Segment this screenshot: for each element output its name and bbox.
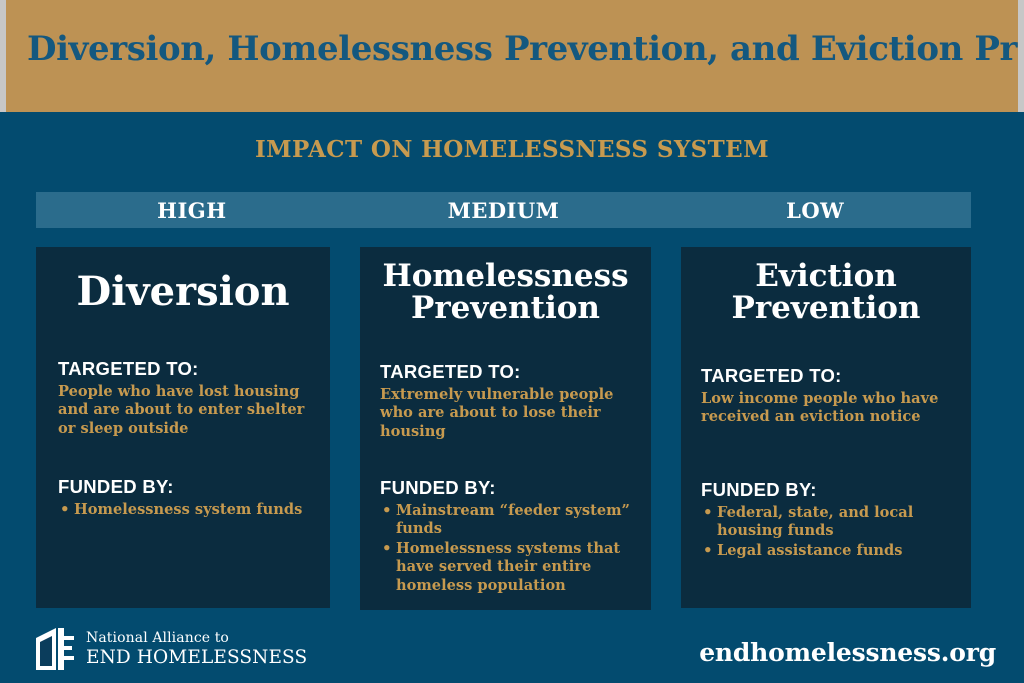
logo-line-2: END HOMELESSNESS	[86, 649, 307, 668]
list-item: Mainstream “feeder system” funds	[380, 502, 638, 539]
card-funded-section: FUNDED BY: Mainstream “feeder system” fu…	[380, 477, 638, 596]
card-targeted-section: TARGETED TO: People who have lost housin…	[58, 358, 320, 438]
logo-line-1: National Alliance to	[86, 631, 307, 645]
open-door-logo-icon	[34, 626, 78, 672]
list-item: Federal, state, and local housing funds	[701, 504, 959, 541]
card-title: Eviction Prevention	[681, 260, 971, 324]
list-item: Homelessness system funds	[58, 501, 320, 519]
card-targeted-section: TARGETED TO: Extremely vulnerable people…	[380, 361, 638, 441]
footer: National Alliance to END HOMELESSNESS en…	[0, 612, 1024, 683]
level-cell-medium: MEDIUM	[348, 192, 660, 228]
targeted-to-text: Extremely vulnerable people who are abou…	[380, 386, 638, 441]
funded-by-list: Homelessness system funds	[58, 501, 320, 519]
targeted-to-text: Low income people who have received an e…	[701, 390, 959, 427]
card-title: Diversion	[36, 271, 330, 313]
card-funded-section: FUNDED BY: Federal, state, and local hou…	[701, 479, 959, 561]
funded-by-label: FUNDED BY:	[58, 476, 320, 498]
targeted-to-label: TARGETED TO:	[58, 358, 320, 380]
card-targeted-section: TARGETED TO: Low income people who have …	[701, 365, 959, 427]
targeted-to-text: People who have lost housing and are abo…	[58, 383, 320, 438]
organization-logo: National Alliance to END HOMELESSNESS	[34, 626, 307, 672]
header-band: Diversion, Homelessness Prevention, and …	[0, 0, 1024, 112]
list-item: Homelessness systems that have served th…	[380, 540, 638, 595]
list-item: Legal assistance funds	[701, 542, 959, 560]
funded-by-list: Federal, state, and local housing funds …	[701, 504, 959, 560]
funded-by-list: Mainstream “feeder system” funds Homeles…	[380, 502, 638, 595]
targeted-to-label: TARGETED TO:	[701, 365, 959, 387]
card-funded-section: FUNDED BY: Homelessness system funds	[58, 476, 320, 520]
funded-by-label: FUNDED BY:	[701, 479, 959, 501]
impact-level-bar: HIGH MEDIUM LOW	[36, 192, 971, 228]
site-url: endhomelessness.org	[699, 638, 996, 667]
funded-by-label: FUNDED BY:	[380, 477, 638, 499]
card-homelessness-prevention: Homelessness Prevention TARGETED TO: Ext…	[360, 247, 651, 610]
level-cell-high: HIGH	[36, 192, 348, 228]
impact-heading: IMPACT ON HOMELESSNESS SYSTEM	[0, 136, 1024, 163]
card-title: Homelessness Prevention	[360, 260, 651, 324]
logo-wordmark: National Alliance to END HOMELESSNESS	[86, 631, 307, 668]
page-title: Diversion, Homelessness Prevention, and …	[27, 29, 997, 69]
targeted-to-label: TARGETED TO:	[380, 361, 638, 383]
card-diversion: Diversion TARGETED TO: People who have l…	[36, 247, 330, 608]
level-cell-low: LOW	[659, 192, 971, 228]
infographic-page: Diversion, Homelessness Prevention, and …	[0, 0, 1024, 683]
card-eviction-prevention: Eviction Prevention TARGETED TO: Low inc…	[681, 247, 971, 608]
